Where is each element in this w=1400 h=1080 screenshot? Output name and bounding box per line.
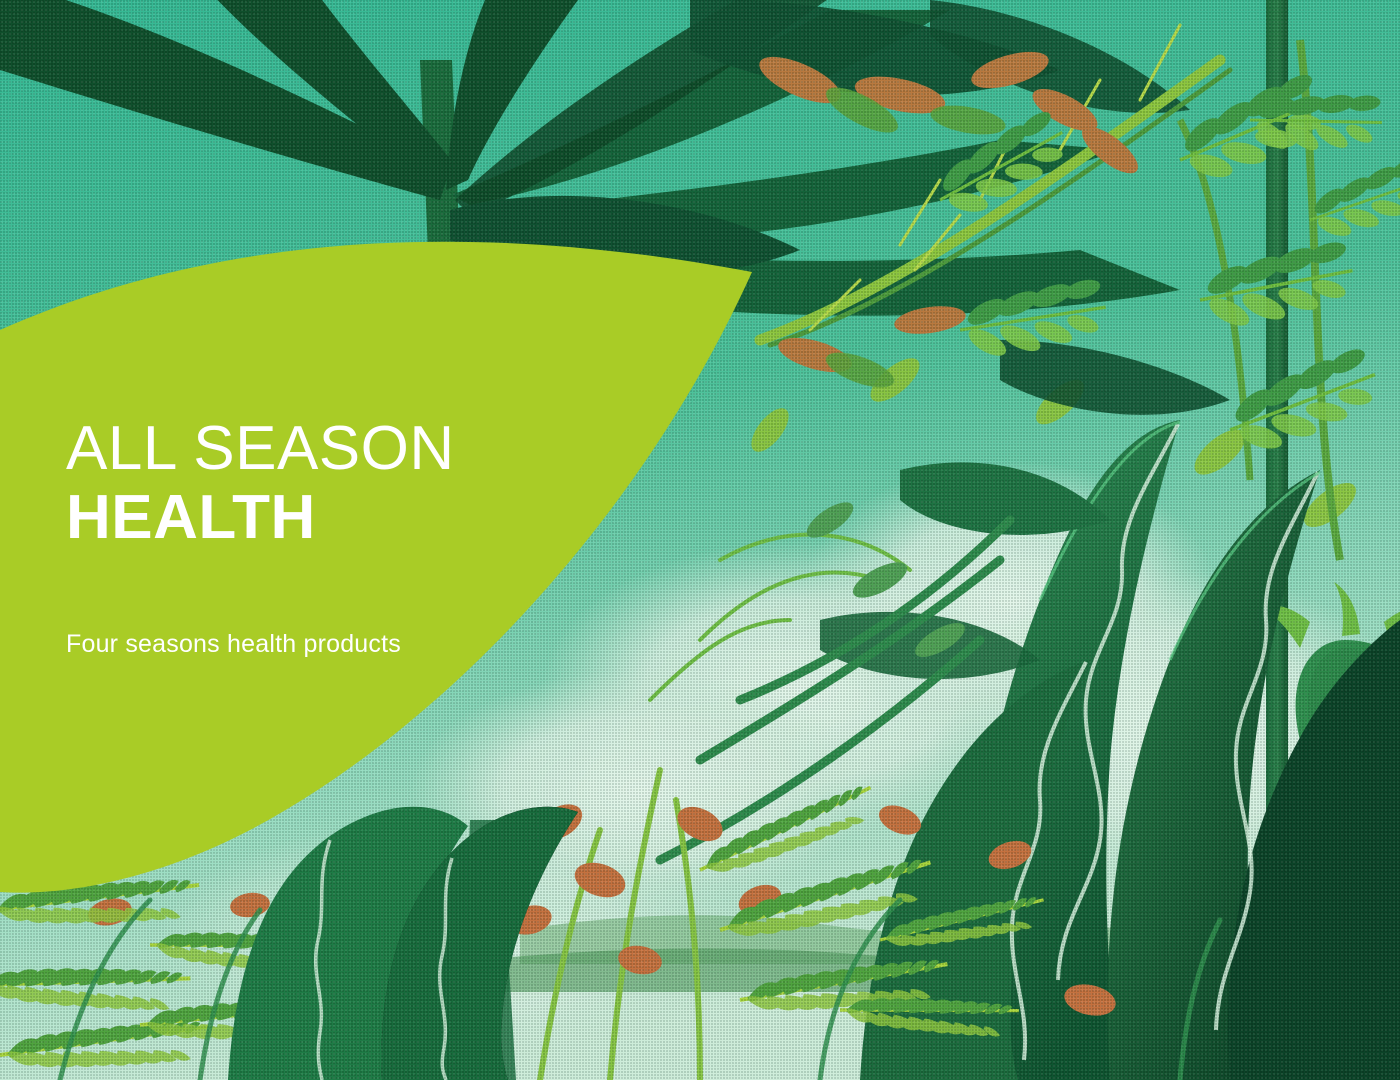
headline-line-2: HEALTH — [66, 483, 686, 552]
poster-root: ALL SEASON HEALTH Four seasons health pr… — [0, 0, 1400, 1080]
title-block: ALL SEASON HEALTH Four seasons health pr… — [66, 414, 686, 659]
page-title: ALL SEASON HEALTH — [66, 414, 686, 553]
headline-line-1: ALL SEASON — [66, 414, 686, 483]
subtitle: Four seasons health products — [66, 553, 686, 659]
